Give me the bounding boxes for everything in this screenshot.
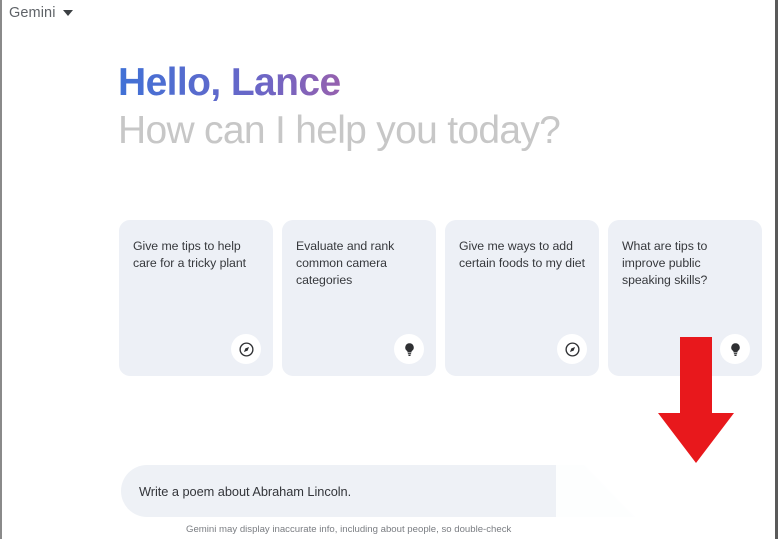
greeting-secondary: How can I help you today?: [118, 108, 560, 154]
top-bar: Gemini: [0, 0, 778, 26]
suggestion-card[interactable]: Evaluate and rank common camera categori…: [282, 220, 436, 376]
compass-icon: [557, 334, 587, 364]
lightbulb-icon: [394, 334, 424, 364]
prompt-input[interactable]: Write a poem about Abraham Lincoln.: [121, 465, 681, 517]
suggestion-card[interactable]: Give me ways to add certain foods to my …: [445, 220, 599, 376]
greeting-block: Hello, Lance How can I help you today?: [118, 60, 560, 154]
chevron-down-icon: [63, 10, 73, 16]
suggestion-card[interactable]: What are tips to improve public speaking…: [608, 220, 762, 376]
suggestion-card-text: Give me tips to help care for a tricky p…: [133, 238, 259, 272]
greeting-primary: Hello, Lance: [118, 60, 560, 106]
disclaimer-text: Gemini may display inaccurate info, incl…: [186, 524, 656, 535]
suggestion-card[interactable]: Give me tips to help care for a tricky p…: [119, 220, 273, 376]
suggestion-card-text: What are tips to improve public speaking…: [622, 238, 748, 289]
suggestion-card-text: Give me ways to add certain foods to my …: [459, 238, 585, 272]
suggestion-card-row: Give me tips to help care for a tricky p…: [119, 220, 778, 376]
compass-icon: [231, 334, 261, 364]
gemini-app-window: Gemini Hello, Lance How can I help you t…: [0, 0, 778, 539]
model-selector[interactable]: Gemini: [9, 5, 73, 21]
brand-label: Gemini: [9, 5, 56, 21]
suggestion-card-text: Evaluate and rank common camera categori…: [296, 238, 422, 289]
prompt-input-value: Write a poem about Abraham Lincoln.: [139, 484, 351, 499]
lightbulb-icon: [720, 334, 750, 364]
window-border-left: [0, 0, 10, 539]
